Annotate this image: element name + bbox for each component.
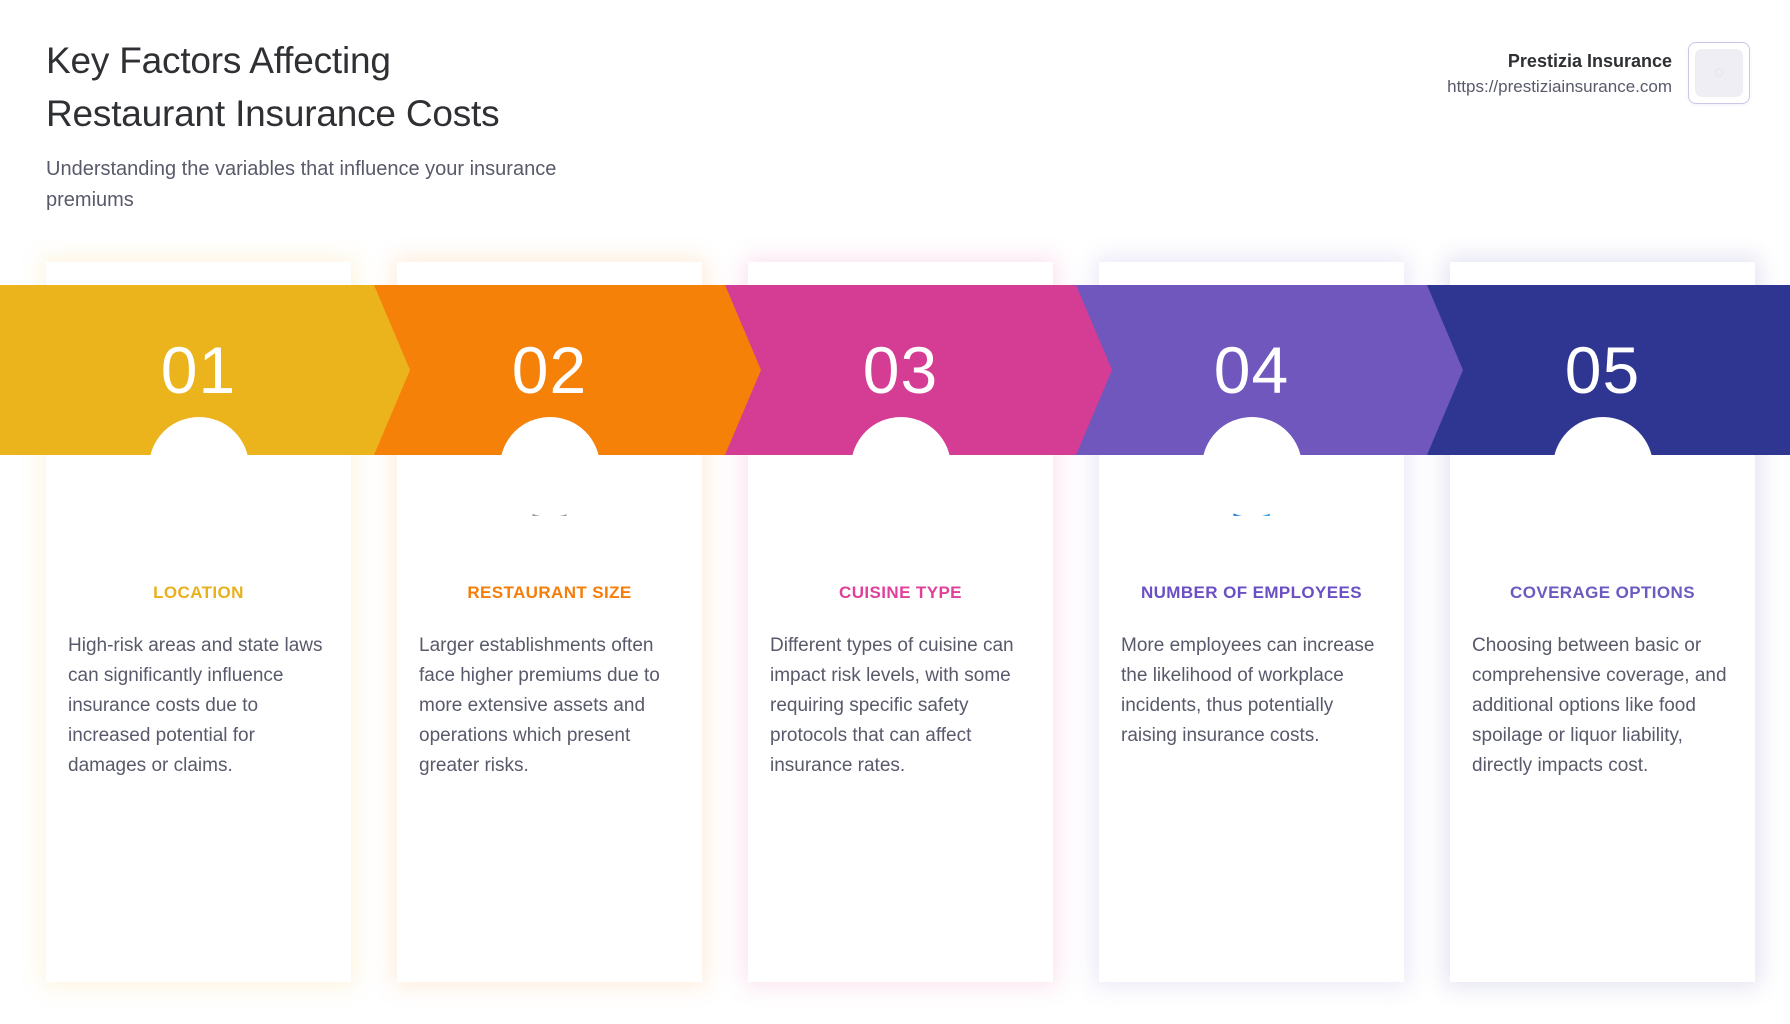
office-building-icon: 🏢: [419, 476, 680, 520]
factor-card-inner: 🛡️COVERAGE OPTIONSChoosing between basic…: [1450, 262, 1755, 982]
factor-card-body: Larger establishments often face higher …: [419, 631, 680, 781]
infographic-page: Key Factors Affecting Restaurant Insuran…: [0, 0, 1790, 1024]
factor-card-inner: 🍲CUISINE TYPEDifferent types of cuisine …: [748, 262, 1053, 982]
shield-icon: 🛡️: [1472, 476, 1733, 520]
factor-card-body: Different types of cuisine can impact ri…: [770, 631, 1031, 781]
factor-card[interactable]: 🏢RESTAURANT SIZELarger establishments of…: [397, 262, 702, 982]
factor-card-inner: 📍LOCATIONHigh-risk areas and state laws …: [46, 262, 351, 982]
factor-cards: 📍LOCATIONHigh-risk areas and state laws …: [0, 262, 1790, 982]
factor-card-body: More employees can increase the likeliho…: [1121, 631, 1382, 751]
factor-card-label: CUISINE TYPE: [770, 580, 1031, 606]
factor-card[interactable]: 📍LOCATIONHigh-risk areas and state laws …: [46, 262, 351, 982]
factor-card-inner: 👥NUMBER OF EMPLOYEESMore employees can i…: [1099, 262, 1404, 982]
busts-in-silhouette-icon: 👥: [1121, 476, 1382, 520]
location-pin-icon: 📍: [68, 476, 329, 520]
page-subtitle: Understanding the variables that influen…: [46, 154, 646, 216]
factor-card-label: COVERAGE OPTIONS: [1472, 580, 1733, 606]
pot-of-food-icon: 🍲: [770, 476, 1031, 520]
brand-text: Prestizia Insurance https://prestiziains…: [1447, 42, 1672, 99]
brand-logo-placeholder-icon: ○: [1695, 49, 1743, 97]
factor-card-content: 🍲CUISINE TYPEDifferent types of cuisine …: [748, 476, 1053, 781]
factor-card[interactable]: 🛡️COVERAGE OPTIONSChoosing between basic…: [1450, 262, 1755, 982]
factor-card-inner: 🏢RESTAURANT SIZELarger establishments of…: [397, 262, 702, 982]
factor-card[interactable]: 👥NUMBER OF EMPLOYEESMore employees can i…: [1099, 262, 1404, 982]
factor-card-label: LOCATION: [68, 580, 329, 606]
factor-card-content: 🏢RESTAURANT SIZELarger establishments of…: [397, 476, 702, 781]
factor-card-strip: 📍LOCATIONHigh-risk areas and state laws …: [0, 262, 1790, 1024]
brand-name: Prestizia Insurance: [1447, 48, 1672, 74]
brand-url[interactable]: https://prestiziainsurance.com: [1447, 74, 1672, 99]
factor-card-content: 👥NUMBER OF EMPLOYEESMore employees can i…: [1099, 476, 1404, 751]
factor-card-body: Choosing between basic or comprehensive …: [1472, 631, 1733, 781]
factor-card[interactable]: 🍲CUISINE TYPEDifferent types of cuisine …: [748, 262, 1053, 982]
factor-card-body: High-risk areas and state laws can signi…: [68, 631, 329, 781]
brand-block: Prestizia Insurance https://prestiziains…: [1447, 42, 1750, 104]
factor-card-label: RESTAURANT SIZE: [419, 580, 680, 606]
page-title-line-1: Key Factors Affecting: [46, 34, 946, 87]
page-title: Key Factors Affecting Restaurant Insuran…: [46, 34, 946, 140]
title-block: Key Factors Affecting Restaurant Insuran…: [46, 34, 946, 216]
page-title-line-2: Restaurant Insurance Costs: [46, 87, 946, 140]
page-header: Key Factors Affecting Restaurant Insuran…: [0, 0, 1790, 230]
factor-card-content: 🛡️COVERAGE OPTIONSChoosing between basic…: [1450, 476, 1755, 781]
brand-logo: ○: [1688, 42, 1750, 104]
factor-card-content: 📍LOCATIONHigh-risk areas and state laws …: [46, 476, 351, 781]
factor-card-label: NUMBER OF EMPLOYEES: [1121, 580, 1382, 606]
